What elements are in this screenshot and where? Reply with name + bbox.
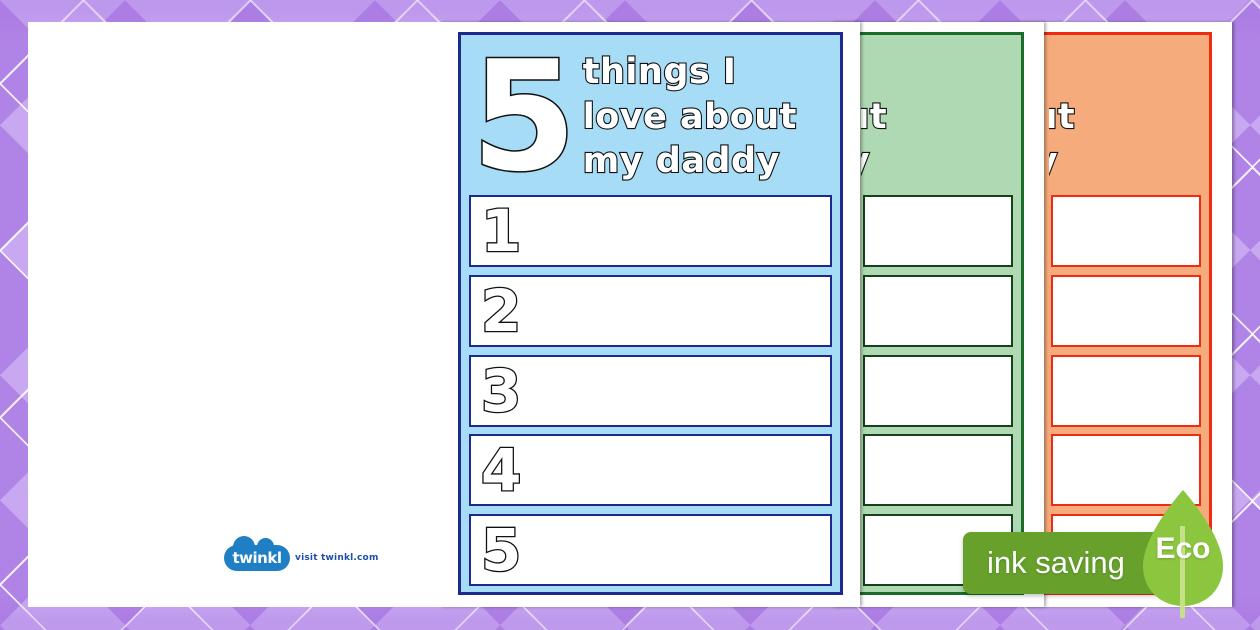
row-number: 5 [481, 521, 521, 579]
header-line-1-green: things I [861, 50, 887, 94]
answer-row[interactable]: 4 [863, 434, 1013, 506]
header-line-3-orange: my daddy [1049, 139, 1075, 183]
worksheet-page-blank[interactable]: twinkl visit twinkl.com [28, 22, 441, 607]
answer-row[interactable]: 5 [469, 514, 832, 586]
twinkl-logo[interactable]: twinkl visit twinkl.com [224, 545, 379, 571]
header-line-1-blue: things I [583, 50, 797, 94]
wallpaper-background: 5 things I love about my daddy 1 2 3 4 5… [0, 0, 1260, 630]
eco-leaf-label: Eco [1155, 532, 1210, 566]
answer-row[interactable]: 3 [1051, 355, 1201, 427]
worksheet-header-green: 5 things I love about my daddy [861, 41, 1015, 193]
worksheet-page-green[interactable]: 5 things I love about my daddy 1 2 3 4 5 [832, 22, 1044, 607]
answer-row[interactable]: 2 [863, 275, 1013, 347]
answer-row[interactable]: 3 [469, 355, 832, 427]
header-line-3-blue: my daddy [583, 139, 797, 183]
answer-row[interactable]: 1 [469, 195, 832, 267]
header-text-green: things I love about my daddy [861, 50, 887, 183]
answer-rows-green: 1 2 3 4 5 [861, 193, 1015, 586]
worksheet-header-blue: 5 things I love about my daddy [467, 41, 834, 193]
header-line-2-green: love about [861, 95, 887, 139]
eco-leaf-icon: Eco [1129, 486, 1237, 618]
header-text-orange: things I love about my daddy [1049, 50, 1075, 183]
answer-row[interactable]: 1 [1051, 195, 1201, 267]
header-line-2-orange: love about [1049, 95, 1075, 139]
header-line-1-orange: things I [1049, 50, 1075, 94]
row-number: 4 [481, 441, 521, 499]
twinkl-wordmark: twinkl [233, 549, 282, 567]
worksheet-page-blue[interactable]: 5 things I love about my daddy 1 2 3 4 5 [440, 22, 860, 607]
header-line-3-green: my daddy [861, 139, 887, 183]
answer-row[interactable]: 2 [1051, 275, 1201, 347]
header-line-2-blue: love about [583, 95, 797, 139]
worksheet-card-green: 5 things I love about my daddy 1 2 3 4 5 [852, 32, 1024, 595]
ink-saving-label: ink saving [987, 545, 1125, 581]
big-number-blue: 5 [471, 46, 573, 189]
row-number: 2 [481, 282, 521, 340]
twinkl-url-text: visit twinkl.com [295, 553, 379, 563]
row-number: 1 [481, 202, 521, 260]
answer-row[interactable]: 3 [863, 355, 1013, 427]
answer-row[interactable]: 2 [469, 275, 832, 347]
worksheet-card-blue: 5 things I love about my daddy 1 2 3 4 5 [458, 32, 843, 595]
answer-row[interactable]: 4 [469, 434, 832, 506]
answer-row[interactable]: 1 [863, 195, 1013, 267]
row-number: 3 [481, 362, 521, 420]
header-text-blue: things I love about my daddy [583, 50, 797, 183]
twinkl-cloud-icon: twinkl [224, 545, 290, 571]
worksheet-header-orange: 5 things I love about my daddy [1049, 41, 1203, 193]
answer-rows-blue: 1 2 3 4 5 [467, 193, 834, 586]
